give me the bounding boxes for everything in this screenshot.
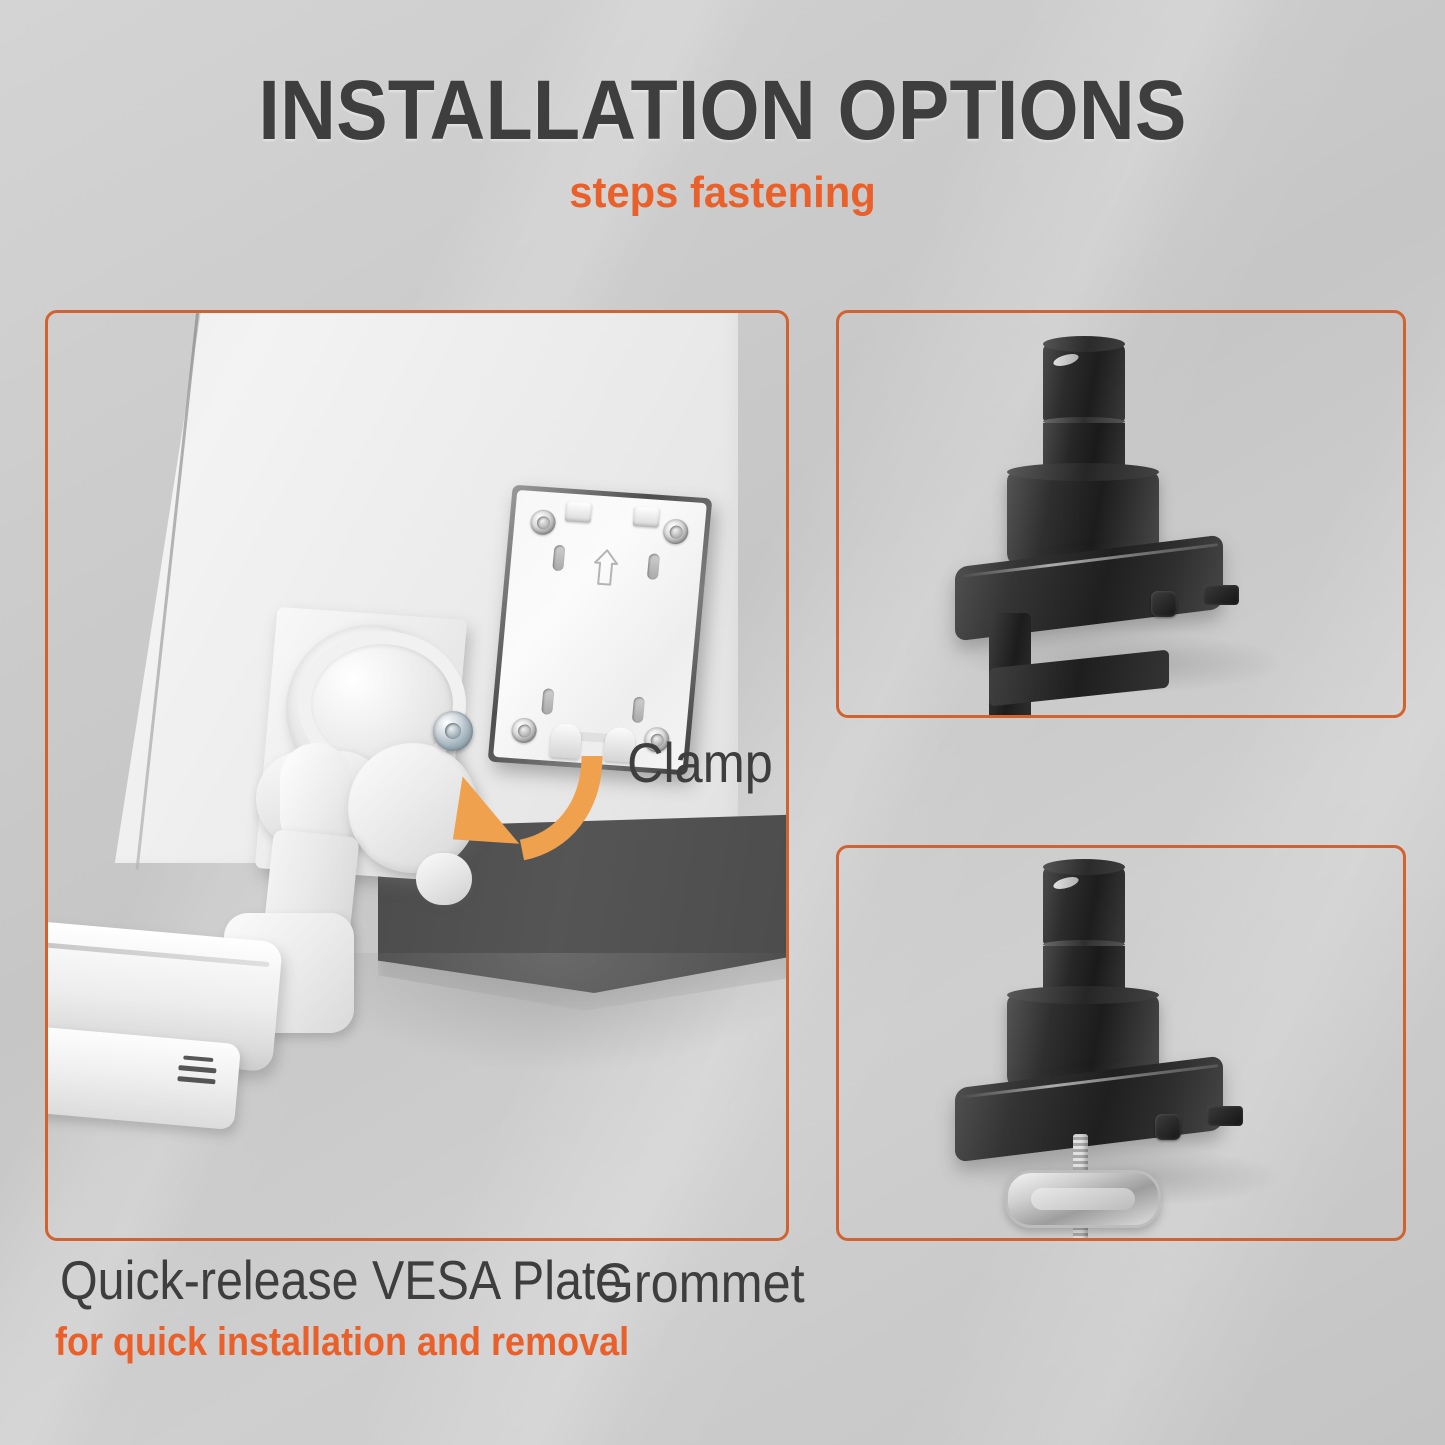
panel-grommet <box>836 845 1406 1241</box>
vesa-slot-3 <box>541 688 554 715</box>
page-subtitle: steps fastening <box>36 168 1409 218</box>
panel-clamp <box>836 310 1406 718</box>
vesa-slot-4 <box>632 697 645 724</box>
clamp-cable-port <box>1203 585 1239 605</box>
clamp-post-upper <box>1043 343 1125 421</box>
infographic-canvas: INSTALLATION OPTIONS steps fastening <box>0 0 1445 1445</box>
page-title: INSTALLATION OPTIONS <box>58 62 1387 159</box>
caption-vesa-sub: for quick installation and removal <box>55 1320 629 1365</box>
vesa-screw-top-left <box>529 509 556 536</box>
vesa-hook-tab-left <box>565 501 593 523</box>
vesa-plate-face <box>493 490 707 770</box>
caption-clamp: Clamp <box>0 730 1400 795</box>
vesa-hook-tab-right <box>633 506 661 528</box>
grommet-illustration <box>839 848 1403 1238</box>
vesa-slot-1 <box>552 545 565 572</box>
grommet-cable-port <box>1207 1106 1243 1126</box>
vesa-screw-top-right <box>662 518 689 545</box>
caption-grommet-text: Grommet <box>595 1250 805 1315</box>
caption-vesa-main: Quick-release VESA Plate <box>60 1248 622 1312</box>
vesa-slot-2 <box>647 553 660 580</box>
grommet-base-plate <box>955 1056 1223 1163</box>
up-arrow-marking-icon <box>591 547 620 587</box>
grommet-post-upper <box>1043 866 1125 944</box>
grommet-release-button <box>1155 1114 1181 1140</box>
caption-clamp-text: Clamp <box>627 730 773 795</box>
monitor-ground-shadow <box>298 953 786 1073</box>
grommet-washer-plate <box>1005 1170 1161 1228</box>
clamp-release-button <box>1151 591 1177 617</box>
cable-vent-slots <box>177 1055 224 1093</box>
clamp-illustration <box>839 313 1403 715</box>
